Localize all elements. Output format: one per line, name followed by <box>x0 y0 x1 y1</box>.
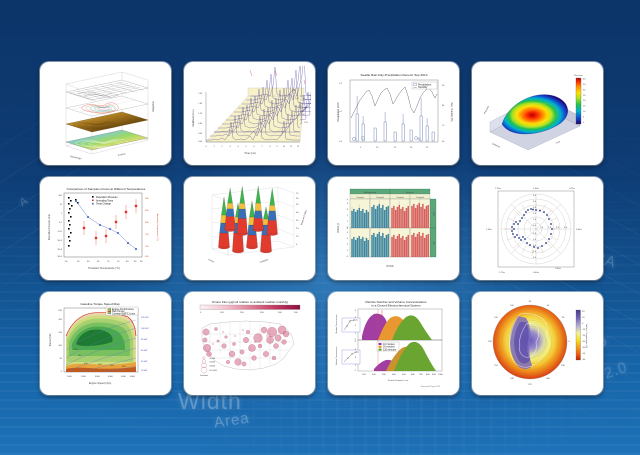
svg-text:35: 35 <box>583 84 586 86</box>
svg-text:25C: 25C <box>432 212 434 216</box>
svg-text:20: 20 <box>583 100 586 102</box>
svg-text:2.50: 2.50 <box>304 122 308 124</box>
panel-precipitation-humidity-chart[interactable]: Seattle Rain Day Precipitation Record, S… <box>328 62 459 165</box>
svg-text:Ozone Flux (µg/m3 relative to: Ozone Flux (µg/m3 relative to ambient me… <box>212 300 288 304</box>
svg-text:5: 5 <box>583 116 585 118</box>
svg-text:in a Closed Electrochemical Sy: in a Closed Electrochemical System <box>371 304 421 308</box>
svg-text:<2000: <2000 <box>209 361 216 364</box>
svg-text:4C: 4C <box>432 242 434 245</box>
svg-text:Wavelength: Wavelength <box>70 155 83 160</box>
svg-text:0.75π: 0.75π <box>569 188 575 190</box>
svg-text:100 kW: 100 kW <box>141 328 149 330</box>
panel-10-canvas: Ozone Flux (µg/m3 relative to ambient me… <box>188 296 311 391</box>
svg-text:1.25π: 1.25π <box>495 188 501 190</box>
svg-text:0.80: 0.80 <box>198 123 202 125</box>
svg-text:1: 1 <box>213 146 215 148</box>
panel-12-canvas: 90 6030 0330 300270 240210 180150 120 Su… <box>476 296 599 391</box>
svg-text:1.00: 1.00 <box>295 98 299 100</box>
svg-text:Comparison of Samples Grown at: Comparison of Samples Grown at Different… <box>67 187 146 191</box>
panel-us-bubble-map[interactable]: Ozone Flux (µg/m3 relative to ambient me… <box>184 292 315 395</box>
svg-text:8: 8 <box>269 146 271 148</box>
svg-text:40 kW: 40 kW <box>141 361 148 363</box>
svg-text:Engine Speed (rpm): Engine Speed (rpm) <box>89 382 112 385</box>
svg-text:Treated: Treated <box>416 196 424 199</box>
svg-text:Control: Control <box>356 196 364 199</box>
panel-3-canvas: Seattle Rain Day Precipitation Record, S… <box>332 66 455 161</box>
panel-4-canvas: Pressure 4035 3025 2015 105 0 Distance T… <box>476 66 599 161</box>
svg-text:0.50π: 0.50π <box>576 229 582 231</box>
svg-text:1E-4: 1E-4 <box>57 249 62 251</box>
svg-text:12: 12 <box>297 146 300 148</box>
panel-trellis-bar-panel-plot[interactable]: Relationship Species Control Treated Con… <box>328 177 459 280</box>
svg-text:2.00: 2.00 <box>198 93 202 95</box>
panel-polar-scatter-error-plot[interactable]: 5.04.0 3.02.0 1.00.0 1.02.0 3.04.0 5.0 1… <box>472 177 603 280</box>
panel-2-canvas: 0 1 2 3 4 5 6 7 8 9 10 11 12 Time (ms) A… <box>188 66 311 161</box>
svg-text:Avg. Humidity (%): Avg. Humidity (%) <box>450 102 453 121</box>
svg-text:40: 40 <box>583 79 586 81</box>
svg-text:Annealing Temperature (°C): Annealing Temperature (°C) <box>156 213 159 240</box>
svg-text:1.75π: 1.75π <box>499 272 505 274</box>
svg-text:Humidity: Humidity <box>418 86 428 89</box>
svg-text:Number Concentration: Number Concentration <box>335 314 338 333</box>
svg-text:Control: Control <box>396 196 404 199</box>
svg-text:Amplitude (m.u.): Amplitude (m.u.) <box>192 109 195 127</box>
panel-8-canvas: 5.04.0 3.02.0 1.00.0 1.02.0 3.04.0 5.0 1… <box>476 181 599 276</box>
svg-text:1E-5: 1E-5 <box>57 256 62 258</box>
svg-text:10: 10 <box>283 146 286 148</box>
panel-polar-stereographic-temperature-map[interactable]: 90 6030 0330 300270 240210 180150 120 Su… <box>472 292 603 395</box>
panel-6-canvas: Group Category Measured Value 010 2030 4… <box>188 181 311 276</box>
svg-text:10: 10 <box>583 111 586 113</box>
svg-text:<1000: <1000 <box>209 357 216 360</box>
svg-text:5: 5 <box>245 146 247 148</box>
svg-text:1.50π: 1.50π <box>486 229 492 231</box>
svg-text:Position: Position <box>118 152 127 157</box>
svg-text:2: 2 <box>221 146 223 148</box>
svg-text:1E-3: 1E-3 <box>57 240 62 242</box>
svg-text:1.50: 1.50 <box>298 106 302 108</box>
svg-text:11: 11 <box>290 146 293 148</box>
svg-text:5000: 5000 <box>121 376 127 378</box>
svg-text:120 minutes: 120 minutes <box>383 349 397 352</box>
svg-text:30: 30 <box>583 89 586 91</box>
svg-text:Relationship: Relationship <box>364 191 377 194</box>
svg-text:Population: Population <box>200 374 208 377</box>
svg-text:Species: Species <box>406 192 415 194</box>
svg-text:PCOS: PCOS <box>386 265 393 268</box>
gallery-stage: Width Area 2.5 2.0 1.5 2A A <box>0 0 640 455</box>
svg-text:1.00π: 1.00π <box>533 188 539 190</box>
panel-stacked-3d-surface-layers[interactable]: Response Wavelength Position <box>40 62 171 165</box>
svg-text:Time: Time <box>556 141 562 145</box>
svg-text:3000: 3000 <box>95 376 101 378</box>
svg-text:0.75: 0.75 <box>292 90 296 92</box>
svg-text:Pressure: Pressure <box>483 105 490 115</box>
svg-text:Volume Concentration: Volume Concentration <box>335 347 338 366</box>
svg-text:15: 15 <box>583 106 586 108</box>
svg-text:<10,000: <10,000 <box>209 369 218 372</box>
svg-text:Temp Change: Temp Change <box>96 203 112 206</box>
panel-deposition-pressure-comparison[interactable]: Comparison of Samples Grown at Different… <box>40 177 171 280</box>
panel-pressure-surface-3d[interactable]: Pressure 4035 3025 2015 105 0 Distance T… <box>472 62 603 165</box>
svg-text:Time (ms): Time (ms) <box>244 151 256 155</box>
svg-text:80 kW: 80 kW <box>141 339 148 341</box>
svg-text:7: 7 <box>261 146 263 148</box>
svg-text:4000: 4000 <box>108 376 114 378</box>
svg-text:3: 3 <box>229 146 231 148</box>
svg-text:Distance: Distance <box>492 142 502 149</box>
svg-text:1000: 1000 <box>438 374 444 376</box>
panel-3d-waterfall-spectra[interactable]: 0 1 2 3 4 5 6 7 8 9 10 11 12 Time (ms) A… <box>184 62 315 165</box>
panel-7-canvas: Relationship Species Control Treated Con… <box>332 181 455 276</box>
panel-engine-torque-speed-map[interactable]: Gasoline Torque Speed Map <box>40 292 171 395</box>
svg-text:6000: 6000 <box>130 376 136 378</box>
svg-text:<5000: <5000 <box>209 365 216 368</box>
svg-text:120 kW: 120 kW <box>141 317 149 319</box>
panel-11-canvas: Particle Number and Volume Concentration… <box>332 296 455 391</box>
panel-3-title: Seattle Rain Day Precipitation Record, S… <box>361 73 428 77</box>
svg-text:ROCA_b: ROCA_b <box>337 222 340 233</box>
svg-text:0.00: 0.00 <box>198 141 202 143</box>
svg-text:Gasoline Torque Speed Map: Gasoline Torque Speed Map <box>80 302 119 306</box>
svg-text:0: 0 <box>583 122 585 124</box>
svg-text:Constant BSFC Lines: Constant BSFC Lines <box>112 312 136 315</box>
svg-text:6: 6 <box>253 146 255 148</box>
svg-text:1000: 1000 <box>67 376 73 378</box>
svg-text:0.40: 0.40 <box>198 133 202 135</box>
svg-text:Deposition Pressure (torr): Deposition Pressure (torr) <box>48 214 51 241</box>
svg-text:Torque (Nm): Torque (Nm) <box>49 333 52 346</box>
svg-text:0: 0 <box>205 146 207 148</box>
svg-text:2000: 2000 <box>81 376 87 378</box>
svg-text:Response: Response <box>152 101 155 112</box>
thumbnail-grid: Response Wavelength Position <box>40 62 602 394</box>
svg-text:Particle Diameter / nm: Particle Diameter / nm <box>388 379 409 382</box>
svg-text:20 kW: 20 kW <box>141 370 148 372</box>
panel-particle-distribution-histogram[interactable]: Particle Number and Volume Concentration… <box>328 292 459 395</box>
svg-text:4: 4 <box>237 146 239 148</box>
panel-3d-stacked-cone-chart[interactable]: Group Category Measured Value 010 2030 4… <box>184 177 315 280</box>
svg-text:1.20: 1.20 <box>198 113 202 115</box>
svg-text:9: 9 <box>276 146 278 148</box>
svg-text:Precipitation (inch): Precipitation (inch) <box>337 102 340 122</box>
svg-text:Transition Temperature (°C): Transition Temperature (°C) <box>88 266 120 270</box>
svg-text:25: 25 <box>583 95 586 97</box>
panel-1-canvas: Response Wavelength Position <box>44 66 167 161</box>
svg-text:60 kW: 60 kW <box>141 350 148 352</box>
svg-text:0.00π: 0.00π <box>533 272 539 274</box>
svg-text:2.00: 2.00 <box>301 114 305 116</box>
panel-5-canvas: Comparison of Samples Grown at Different… <box>44 181 167 276</box>
svg-text:1.60: 1.60 <box>198 103 202 105</box>
svg-text:0.25π: 0.25π <box>555 268 561 270</box>
svg-text:Pressure: Pressure <box>574 74 584 77</box>
panel-9-canvas: Gasoline Torque Speed Map <box>44 296 167 391</box>
svg-text:Treated: Treated <box>376 196 384 199</box>
svg-text:Surface Temperature (C): Surface Temperature (C) <box>585 324 588 348</box>
